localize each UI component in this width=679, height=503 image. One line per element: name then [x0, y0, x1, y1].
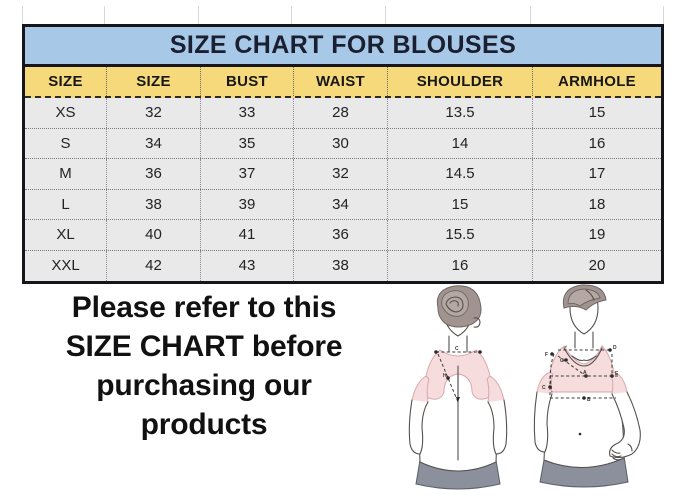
page-title: SIZE CHART FOR BLOUSES [170, 31, 516, 60]
column-header-armhole: ARMHOLE [533, 67, 661, 96]
cell-bust: 41 [201, 220, 294, 250]
cell-size-number: 36 [107, 159, 201, 189]
cell-shoulder: 13.5 [388, 98, 533, 128]
cell-bust: 39 [201, 190, 294, 220]
spreadsheet-gridline-ticks [0, 0, 679, 24]
cell-shoulder: 15.5 [388, 220, 533, 250]
instruction-caption: Please refer to this SIZE CHART before p… [8, 288, 400, 444]
table-body: XS 32 33 28 13.5 15 S 34 35 30 14 16 M 3… [25, 98, 661, 281]
cell-size-label: XS [25, 98, 107, 128]
caption-line-1: Please refer to this [8, 288, 400, 327]
cell-bust: 35 [201, 129, 294, 159]
cell-waist: 34 [294, 190, 388, 220]
table-row: XXL 42 43 38 16 20 [25, 251, 661, 282]
cell-size-number: 34 [107, 129, 201, 159]
cell-bust: 43 [201, 251, 294, 282]
cell-waist: 38 [294, 251, 388, 282]
cell-waist: 32 [294, 159, 388, 189]
cell-armhole: 16 [533, 129, 661, 159]
cell-size-label: XXL [25, 251, 107, 282]
table-row: L 38 39 34 15 18 [25, 190, 661, 221]
caption-line-3: purchasing our [8, 366, 400, 405]
marker-label-f-front: F [545, 352, 548, 358]
cell-size-number: 38 [107, 190, 201, 220]
marker-label-g-front: G [560, 358, 564, 364]
caption-line-2: SIZE CHART before [8, 327, 400, 366]
front-view-figure: D F G A E B C [534, 285, 640, 487]
chart-title-bar: SIZE CHART FOR BLOUSES [25, 27, 661, 67]
cell-shoulder: 15 [388, 190, 533, 220]
table-row: XL 40 41 36 15.5 19 [25, 220, 661, 251]
cell-size-number: 42 [107, 251, 201, 282]
cell-armhole: 19 [533, 220, 661, 250]
table-row: M 36 37 32 14.5 17 [25, 159, 661, 190]
cell-armhole: 18 [533, 190, 661, 220]
cell-armhole: 15 [533, 98, 661, 128]
cell-size-number: 32 [107, 98, 201, 128]
table-row: XS 32 33 28 13.5 15 [25, 98, 661, 129]
cell-shoulder: 14.5 [388, 159, 533, 189]
cell-waist: 36 [294, 220, 388, 250]
cell-size-label: S [25, 129, 107, 159]
column-header-shoulder: SHOULDER [388, 67, 533, 96]
table-header-row: SIZE SIZE BUST WAIST SHOULDER ARMHOLE [25, 67, 661, 98]
cell-armhole: 20 [533, 251, 661, 282]
back-view-figure: C H [409, 286, 506, 489]
cell-size-label: M [25, 159, 107, 189]
column-header-size-label: SIZE [25, 67, 107, 96]
cell-waist: 28 [294, 98, 388, 128]
cell-bust: 37 [201, 159, 294, 189]
caption-line-4: products [8, 405, 400, 444]
column-header-waist: WAIST [294, 67, 388, 96]
cell-waist: 30 [294, 129, 388, 159]
cell-armhole: 17 [533, 159, 661, 189]
cell-size-number: 40 [107, 220, 201, 250]
column-header-size-number: SIZE [107, 67, 201, 96]
column-header-bust: BUST [201, 67, 294, 96]
marker-label-c-front: C [542, 385, 546, 391]
table-row: S 34 35 30 14 16 [25, 129, 661, 160]
marker-label-c-back: C [455, 346, 459, 352]
size-chart-table: SIZE CHART FOR BLOUSES SIZE SIZE BUST WA… [22, 24, 664, 284]
measurement-illustration: .ol{fill:none;stroke:#55514f;stroke-widt… [396, 284, 676, 500]
cell-size-label: XL [25, 220, 107, 250]
marker-label-h-back: H [443, 373, 447, 379]
cell-bust: 33 [201, 98, 294, 128]
cell-shoulder: 14 [388, 129, 533, 159]
cell-size-label: L [25, 190, 107, 220]
marker-label-d-front: D [613, 345, 617, 351]
marker-label-b-front: B [587, 397, 591, 403]
cell-shoulder: 16 [388, 251, 533, 282]
